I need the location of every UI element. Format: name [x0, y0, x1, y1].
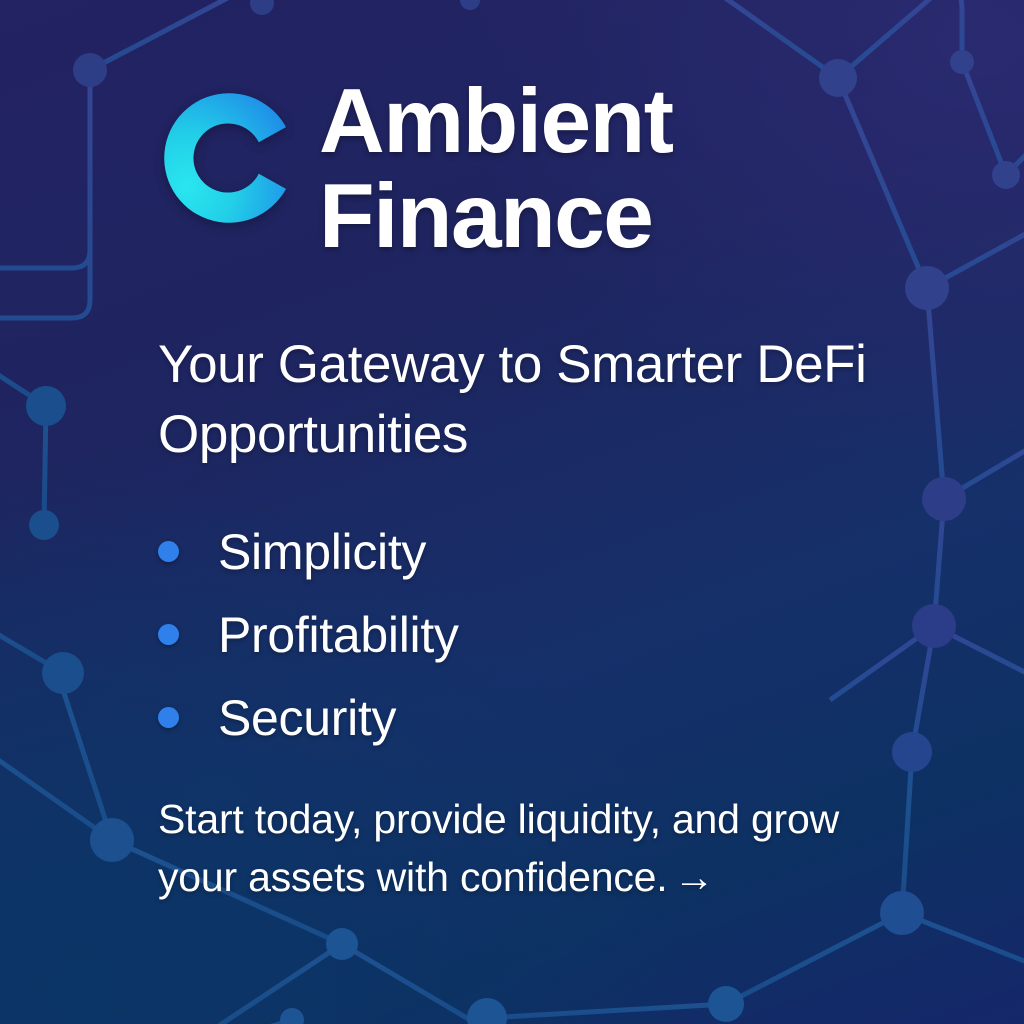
list-item: Simplicity: [158, 510, 459, 593]
tagline: Your Gateway to Smarter DeFi Opportuniti…: [158, 330, 878, 470]
brand-lockup: Ambient Finance: [157, 78, 673, 261]
feature-label: Profitability: [218, 606, 459, 664]
brand-name-line-2: Finance: [319, 173, 673, 260]
ambient-c-logo-icon: [157, 86, 301, 230]
feature-label: Security: [218, 689, 396, 747]
brand-name-line-1: Ambient: [319, 78, 673, 165]
bullet-dot-icon: [158, 624, 179, 645]
arrow-right-icon[interactable]: →: [673, 854, 714, 900]
list-item: Profitability: [158, 593, 459, 676]
bullet-dot-icon: [158, 541, 179, 562]
cta-text: Start today, provide liquidity, and grow…: [158, 796, 839, 900]
list-item: Security: [158, 676, 459, 759]
cta-block[interactable]: Start today, provide liquidity, and grow…: [158, 790, 898, 906]
bullet-dot-icon: [158, 707, 179, 728]
promo-card: Ambient Finance Your Gateway to Smarter …: [0, 0, 1024, 1024]
feature-list: Simplicity Profitability Security: [158, 510, 459, 759]
feature-label: Simplicity: [218, 523, 426, 581]
